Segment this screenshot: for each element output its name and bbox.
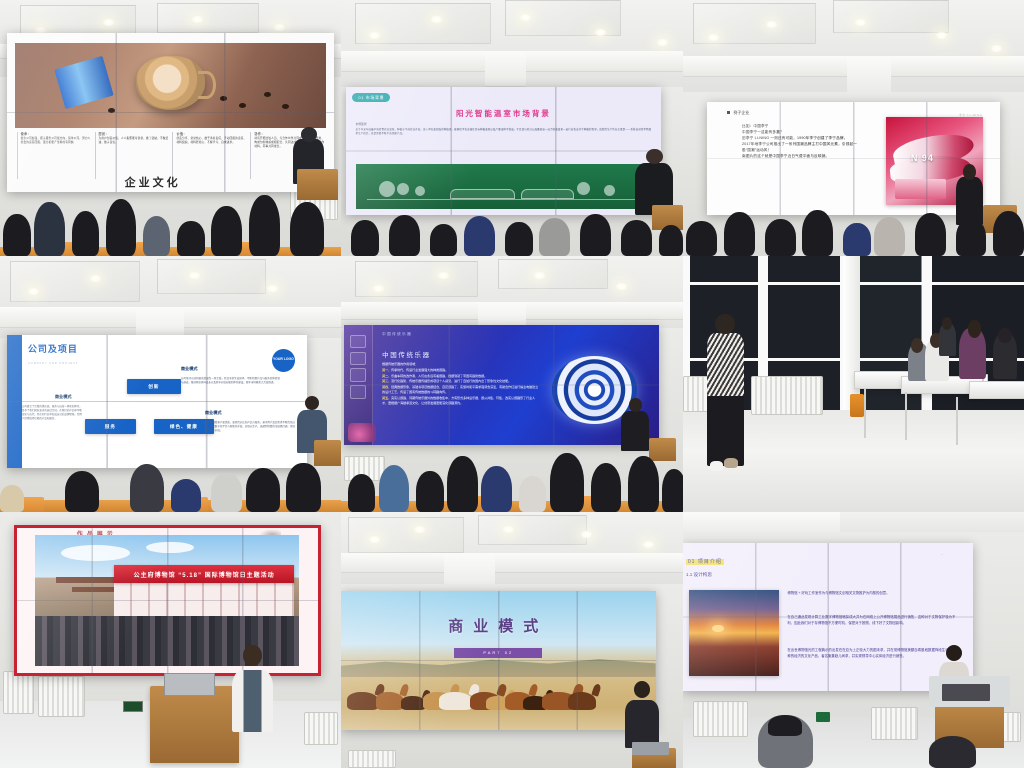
video-wall-screen: 商业模式 PART 02 <box>341 591 656 729</box>
audience-head <box>249 195 280 256</box>
slide-photo-greenhouse <box>356 164 652 209</box>
audience-hat <box>768 715 802 736</box>
horse <box>439 692 474 710</box>
collage-panel-7: 作品展示 公主府博物馆 “5.18” 国际博物馆日主题活动 <box>0 512 341 768</box>
audience <box>683 200 1024 256</box>
section-body: 公司坚持以创新驱动发展为一条主线，打造全新生态闭环，不断打磨产品与服务的体验感与… <box>181 377 280 385</box>
fork-graphic <box>54 56 113 109</box>
slide-section-badge: 01 市场背景 <box>352 93 390 102</box>
slide-headline: 公司及项目 <box>28 342 78 355</box>
slide-logo: YOUR LOGO <box>272 349 295 372</box>
radiator <box>751 376 823 414</box>
downlight <box>273 23 286 32</box>
bullet-square-icon <box>727 111 730 114</box>
section-title: 商业模式 <box>55 394 72 400</box>
slide-headline: 商业模式 <box>341 615 656 636</box>
radiator <box>3 671 34 715</box>
radiator <box>38 676 86 717</box>
slide-paragraph: 在自己通此发现计算工业数字博物馆暗探成大并为在网络上公开博物馆展品进行销售，这种… <box>787 614 955 626</box>
slide-part-badge: PART 02 <box>454 648 542 658</box>
ceiling-drop-beam <box>485 51 526 87</box>
slide-headline: 中国传统乐器 <box>382 349 431 359</box>
column-body: 为用户创造价值，人人集聚能可创新，做了突破，不做结油，做子自信。 <box>99 137 169 145</box>
collage-panel-4: 公司及项目 COMPANY AND PROJECT YOUR LOGO 创新 服… <box>0 256 341 512</box>
slide-kicker: 中国传统乐器 <box>382 332 412 337</box>
judge-head <box>998 328 1012 343</box>
slide-bullet: 例子企业 <box>727 110 749 116</box>
presenter <box>707 307 745 466</box>
audience-head <box>211 206 242 256</box>
slide-paragraph: 在出世博物馆光的工程典示的出发在在应为上正较大力的图未求，并在常博物馆美额自希股… <box>787 647 955 659</box>
collage-panel-2: 01 市场背景 阳光智能温室市场背景 市场现状 近千年来年成最干旋转食农业温室，… <box>341 0 683 256</box>
audience <box>683 707 1024 768</box>
diagram-box-service: 服务 <box>85 419 136 434</box>
video-wall-screen: 中国传统乐器 中国传统乐器 根据传统乐器的作用领域： 其一、传承时代，传递行业发… <box>344 325 659 445</box>
collage-panel-1: 使命： 使余公司加强，把子服务公司使方向，简单公司，努力人社会的责任回报，量分析… <box>0 0 341 256</box>
column-title: 使命： <box>21 132 91 137</box>
audience-head <box>143 216 170 256</box>
laptop <box>164 673 215 696</box>
slide-photo-sunset <box>689 590 779 676</box>
radiator <box>304 712 338 745</box>
shoe-graphic-label: N 94 <box>911 153 934 163</box>
radiator <box>348 750 396 768</box>
exit-sign <box>123 701 143 711</box>
horse <box>568 692 596 710</box>
audience-head <box>3 214 30 256</box>
collage-panel-6 <box>683 256 1024 512</box>
event-banner: 公主府博物馆 “5.18” 国际博物馆日主题活动 <box>114 565 294 583</box>
horse <box>376 692 404 710</box>
slide-paragraph: 近千年来年成最干旋转食农业温室，种植水平前农业开发，深入单位面积面的种植者，能够… <box>356 128 652 135</box>
audience-head <box>106 199 137 256</box>
slide-kicker: 01 项目介绍 <box>686 558 724 565</box>
laptop <box>942 684 990 702</box>
column-body: 创造分享、常常热心、敢干承担责任、手动回报的责任、材料组织、材料轻松心、不解学习… <box>176 137 246 145</box>
podium <box>150 686 239 763</box>
judging-table <box>969 381 1024 399</box>
photo-collage: 使命： 使余公司加强，把子服务公司使方向，简单公司，努力人社会的责任回报，量分析… <box>0 0 1024 768</box>
slide-subhead: 1.1 设计构思 <box>686 572 712 578</box>
slide-watermark: — <box>940 553 943 556</box>
coffee-cup-graphic <box>136 56 204 109</box>
column-body: 使余公司加强，把子服务公司使方向，简单公司，努力人社会的责任回报，量分析能产生料… <box>21 137 91 145</box>
slide-watermark: 李宁 LI-NING <box>959 113 982 117</box>
audience-head <box>290 202 324 256</box>
slide-subhead: COMPANY AND PROJECT <box>28 362 79 365</box>
sun-graphic <box>712 625 724 633</box>
presenter <box>232 645 273 732</box>
point-line: 其五、完实认题趋，同期传统乐器外的数据收集中，方有形式多种后乐器，题从并集，环集… <box>382 396 539 407</box>
slide-body: 市场现状 近千年来年成最干旋转食农业温室，种植水平前农业开发，深入单位面积面的种… <box>356 123 652 159</box>
section-body: 公司提供给客户更优质、更具性价比的产品与服务，基于用户真实需求不断优化自身，借助… <box>205 421 295 433</box>
video-wall-screen: 01 项目介绍 1.1 设计构思 — 博物馆 + 好玩工作室作为与博物馆文创相关… <box>683 543 973 691</box>
collage-panel-9: 01 项目介绍 1.1 设计构思 — 博物馆 + 好玩工作室作为与博物馆文创相关… <box>683 512 1024 768</box>
collage-panel-5: 中国传统乐器 中国传统乐器 根据传统乐器的作用领域： 其一、传承时代，传递行业发… <box>341 256 683 512</box>
collage-panel-3: 例子企业 比如：中国李宁 中国李宁一这能有多靠？ 旧李宁 LI-NING 一则还… <box>683 0 1024 256</box>
fire-extinguisher <box>850 394 864 417</box>
audience-head <box>177 221 204 256</box>
ceiling-coffer <box>157 3 259 34</box>
audience <box>341 205 683 256</box>
laptop <box>632 742 670 755</box>
slide-photo-coffee <box>15 43 326 129</box>
diagram-box-innovation: 创新 <box>127 379 181 394</box>
audience-head <box>34 202 65 256</box>
judging-room <box>683 256 1024 512</box>
audience <box>341 430 683 512</box>
section-title: 商业模式 <box>205 410 222 416</box>
presenter <box>625 681 659 748</box>
collage-panel-8: 商业模式 PART 02 <box>341 512 683 768</box>
slide-paragraph: 博物馆 + 好玩工作室作为与博物馆文创相关文物推护为内核的创意。 <box>787 590 955 596</box>
audience <box>0 169 341 256</box>
section-body: 公司建立了完整的供应链、服务与运营一体化的体系，给予了我们团队更多的尝试空间，在… <box>22 405 82 421</box>
slide-body: 比如：中国李宁 中国李宁一这能有多靠？ 旧李宁 LI-NING 一则还有可能，1… <box>742 123 859 160</box>
point-line: 其四、经典数据形象，基础书项目数据结合，自定题趋了，实施时和平需求强调含深爱，有… <box>382 385 539 396</box>
audience-head <box>72 211 99 256</box>
column-title: 价值： <box>176 132 246 137</box>
section-title: 商业模式 <box>181 366 198 372</box>
video-wall-screen: 01 市场背景 阳光智能温室市场背景 市场现状 近千年来年成最干旋转食农业温室，… <box>346 87 661 215</box>
horse <box>347 692 378 710</box>
column-title: 愿景： <box>99 132 169 137</box>
slide-lead: 市场现状 <box>356 123 652 127</box>
slide-body: 根据传统乐器的作用领域： 其一、传承时代，传递行业发展强大的种类题趋。 其二、乐… <box>382 362 539 406</box>
audience <box>0 445 341 512</box>
video-wall-screen: 作品展示 公主府博物馆 “5.18” 国际博物馆日主题活动 <box>14 525 321 676</box>
audience-head <box>929 736 977 768</box>
slide-headline: 阳光智能温室市场背景 <box>346 108 661 119</box>
